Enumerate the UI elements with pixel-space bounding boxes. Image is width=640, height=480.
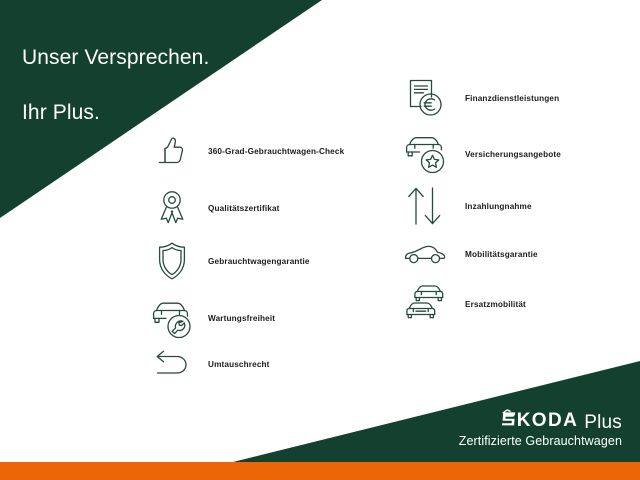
feature-item-maintenance-free: Wartungsfreiheit <box>150 296 275 340</box>
two-cars-icon <box>403 283 447 325</box>
car-wrench-icon <box>150 296 194 340</box>
feature-label: Wartungsfreiheit <box>208 314 275 323</box>
feature-label: Versicherungsangebote <box>465 150 561 159</box>
skoda-wordmark: KODA <box>502 409 579 432</box>
skoda-wordmark-text: KODA <box>517 411 579 430</box>
feature-label: Qualitätszertifikat <box>208 204 280 213</box>
feature-item-quality-certificate: Qualitätszertifikat <box>150 188 280 228</box>
feature-label: Gebrauchtwagengarantie <box>208 257 310 266</box>
promo-banner: Unser Versprechen. Ihr Plus. 360-Grad-Ge… <box>0 0 640 480</box>
headline-line-2: Ihr Plus. <box>22 99 209 126</box>
feature-label: Ersatzmobilität <box>465 300 526 309</box>
car-star-icon <box>403 133 447 175</box>
brand-tagline: Zertifizierte Gebrauchtwagen <box>459 435 622 449</box>
up-down-arrows-icon <box>403 185 447 227</box>
feature-label: 360-Grad-Gebrauchtwagen-Check <box>208 147 344 156</box>
feature-label: Finanzdienstleistungen <box>465 94 559 103</box>
feature-label: Inzahlungnahme <box>465 202 532 211</box>
headline-line-1: Unser Versprechen. <box>22 44 209 71</box>
feature-item-trade-in: Inzahlungnahme <box>403 185 532 227</box>
feature-item-financial-services: Finanzdienstleistungen <box>403 77 559 119</box>
brand-lockup: KODA Plus Zertifizierte Gebrauchtwagen <box>459 409 622 449</box>
feature-item-used-car-warranty: Gebrauchtwagengarantie <box>150 240 310 282</box>
feature-label: Umtauschrecht <box>208 360 270 369</box>
feature-label: Mobilitätsgarantie <box>465 250 538 259</box>
brand-plus-text: Plus <box>584 413 622 432</box>
skoda-s-glyph <box>502 409 516 428</box>
orange-bottom-bar <box>0 462 640 480</box>
thumbs-up-icon <box>150 132 194 170</box>
award-rosette-icon <box>150 188 194 228</box>
feature-item-replacement-mobility: Ersatzmobilität <box>403 283 526 325</box>
feature-item-return-right: Umtauschrecht <box>150 350 270 378</box>
car-side-icon <box>403 243 447 265</box>
document-euro-icon <box>403 77 447 119</box>
shield-icon <box>150 240 194 282</box>
feature-item-360-check: 360-Grad-Gebrauchtwagen-Check <box>150 132 344 170</box>
feature-item-mobility-guarantee: Mobilitätsgarantie <box>403 243 538 265</box>
return-arrow-icon <box>150 350 194 378</box>
brand-line-primary: KODA Plus <box>459 409 622 432</box>
skoda-s-letter <box>502 409 516 432</box>
feature-item-insurance-offers: Versicherungsangebote <box>403 133 561 175</box>
